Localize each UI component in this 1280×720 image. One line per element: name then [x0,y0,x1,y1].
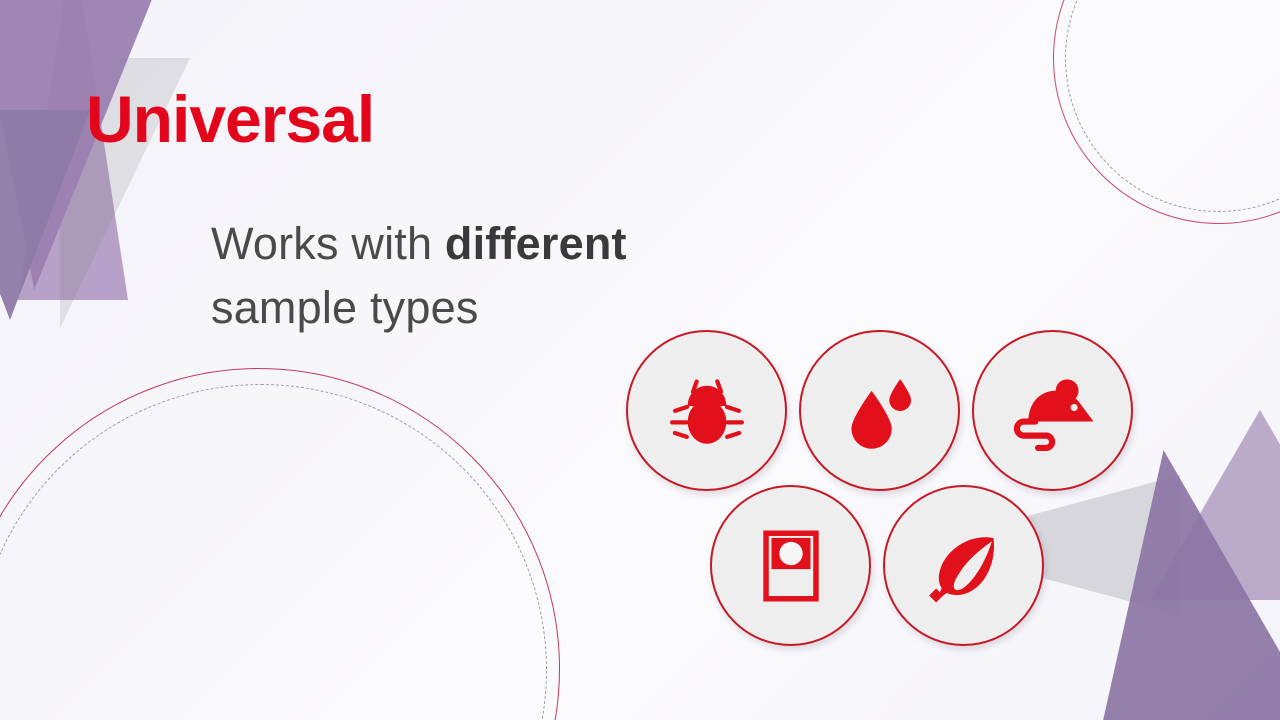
sample-type-icon-cluster [620,325,1150,665]
bug-icon [665,369,749,453]
subtitle-lead-text: Works with [211,218,445,269]
blood-drop-icon [838,369,922,453]
subtitle-tail-text: sample types [211,282,479,333]
sample-type-rodent[interactable] [972,330,1133,491]
petri-dish-icon [752,527,830,605]
purple-triangle-left-lower-icon [0,110,90,320]
sample-type-culture[interactable] [710,485,871,646]
sample-type-blood[interactable] [799,330,960,491]
page-title: Universal [86,86,374,152]
slide-canvas: Universal Works with differentsample typ… [0,0,1280,720]
sample-type-plant[interactable] [883,485,1044,646]
solid-circle-top-right-icon [1053,0,1280,224]
mouse-icon [1009,367,1097,455]
solid-circle-bottom-left-icon [0,368,560,720]
subtitle-emphasis-text: different [445,218,627,269]
leaf-icon [923,525,1005,607]
dashed-circle-top-right-icon [1065,0,1280,212]
sample-type-insect[interactable] [626,330,787,491]
subtitle: Works with differentsample types [211,212,627,340]
dashed-circle-bottom-left-icon [0,384,547,720]
purple-triangle-right-mid-icon [1150,410,1280,600]
